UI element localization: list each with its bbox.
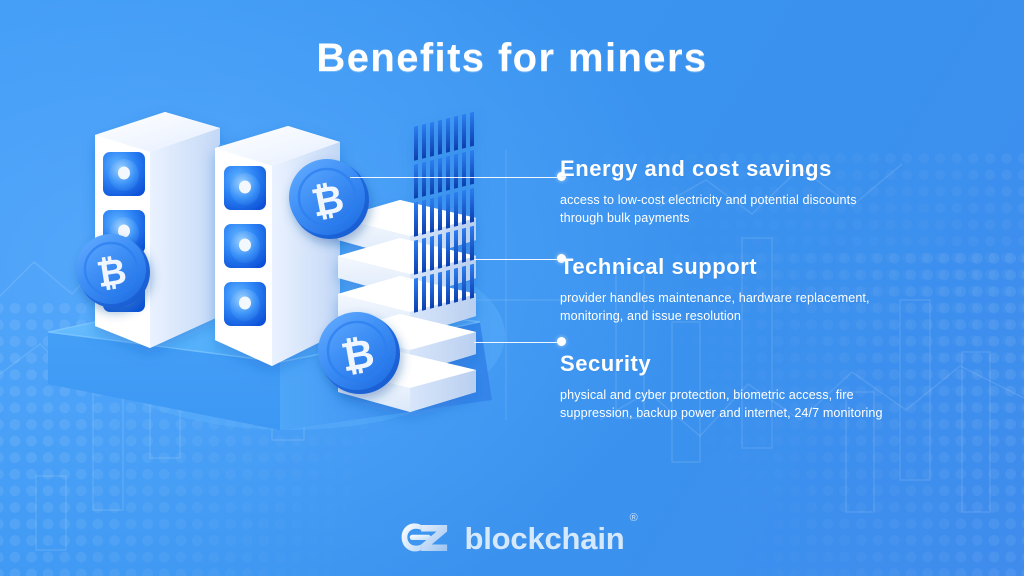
benefit-description: provider handles maintenance, hardware r… <box>560 290 900 326</box>
benefit-heading: Security <box>560 351 990 377</box>
logo-text: blockchain <box>465 521 625 556</box>
registered-trademark-icon: ® <box>630 513 638 524</box>
page-title: Benefits for miners <box>0 36 1024 81</box>
benefit-heading: Energy and cost savings <box>560 156 990 182</box>
infographic-slide: Benefits for miners <box>0 0 1024 576</box>
benefit-heading: Technical support <box>560 254 990 280</box>
mining-illustration: ₿ ₿ ₿ <box>40 100 560 430</box>
mining-rigs-graphic: ₿ ₿ ₿ <box>40 100 560 430</box>
benefit-item-energy-and-cost-savings: Energy and cost savings access to low-co… <box>560 156 990 228</box>
logo-wordmark: blockchain ® <box>465 523 625 554</box>
benefit-description: access to low-cost electricity and poten… <box>560 192 900 228</box>
benefit-description: physical and cyber protection, biometric… <box>560 387 900 423</box>
rig-fan-group-2 <box>224 166 266 326</box>
benefit-item-technical-support: Technical support provider handles maint… <box>560 254 990 326</box>
ez-monogram-icon <box>400 520 452 556</box>
footer-logo: blockchain ® <box>0 520 1024 556</box>
benefits-list: Energy and cost savings access to low-co… <box>560 156 990 423</box>
benefit-item-security: Security physical and cyber protection, … <box>560 351 990 423</box>
